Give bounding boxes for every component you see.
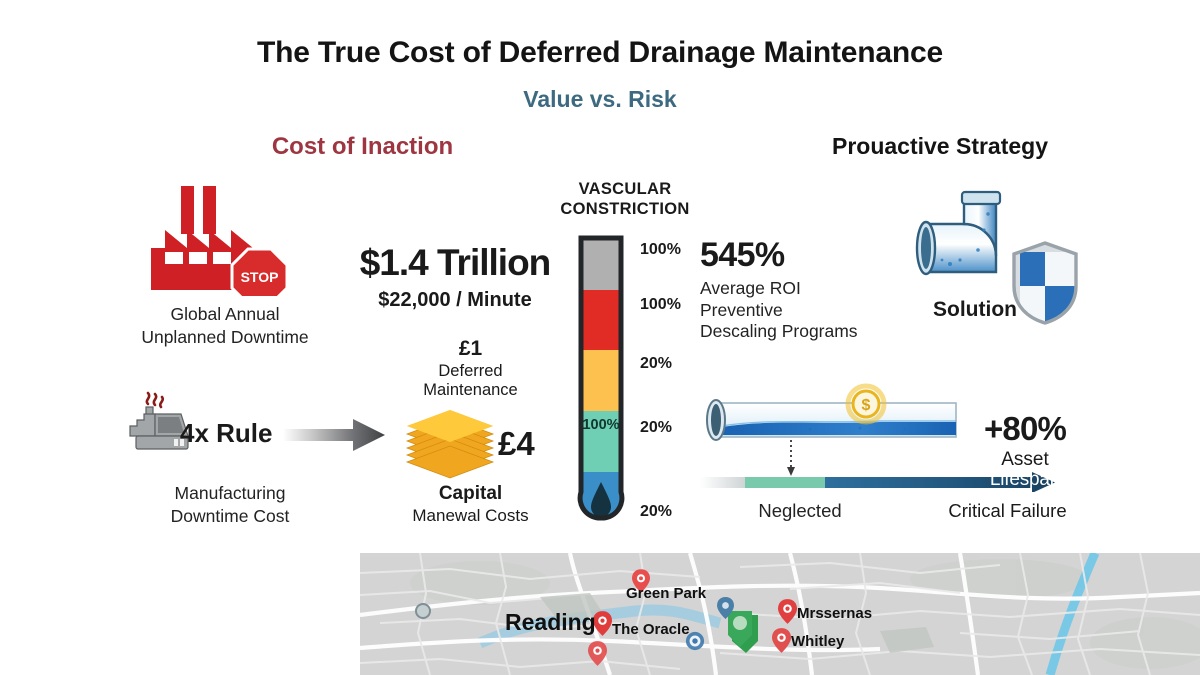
map-label-green-park: Green Park bbox=[626, 585, 706, 602]
map-label-the-oracle: The Oracle bbox=[612, 621, 690, 638]
capital-renewal-label: Capital Manewal Costs bbox=[378, 483, 563, 526]
deferred-amount: £1 bbox=[378, 337, 563, 362]
gold-coin-stack-icon bbox=[405, 408, 495, 480]
roi-line1: Average ROI bbox=[700, 278, 801, 298]
gauge-tick-4: 20% bbox=[640, 503, 672, 521]
pin-the-oracle[interactable] bbox=[593, 611, 612, 636]
gauge-title-line2: CONSTRICTION bbox=[560, 200, 689, 218]
gauge-tick-0: 100% bbox=[640, 241, 681, 259]
map-label-mrssernas: Mrssernas bbox=[797, 605, 872, 622]
gauge-title-line1: VASCULAR bbox=[579, 180, 672, 198]
deferred-line2: Maintenance bbox=[378, 381, 563, 400]
vascular-constriction-gauge bbox=[577, 234, 625, 522]
gauge-inner-label: 100% bbox=[578, 417, 624, 433]
scale-label-neglected: Neglected bbox=[700, 500, 900, 522]
manufacturing-caption: Manufacturing Downtime Cost bbox=[110, 482, 350, 529]
dollar-coin-icon: $ bbox=[845, 383, 887, 425]
pin-extra-marker[interactable] bbox=[588, 641, 607, 666]
gauge-title: VASCULAR CONSTRICTION bbox=[540, 180, 710, 220]
roi-value: 545% bbox=[700, 238, 910, 274]
section-heading-proactive-strategy: Prouactive Strategy bbox=[680, 133, 1200, 160]
gauge-band-red bbox=[577, 290, 625, 350]
downtime-caption: Global Annual Unplanned Downtime bbox=[105, 303, 345, 350]
manufacturing-caption-line2: Downtime Cost bbox=[171, 506, 290, 526]
page-title: The True Cost of Deferred Drainage Maint… bbox=[0, 36, 1200, 70]
four-x-rule-label: 4x Rule bbox=[180, 418, 273, 449]
pin-blue-teardrop[interactable] bbox=[717, 597, 734, 619]
factory-stop-icon: STOP bbox=[145, 186, 305, 296]
map-label-whitley: Whitley bbox=[791, 633, 844, 650]
capital-line2: Manewal Costs bbox=[378, 506, 563, 526]
pin-whitley[interactable] bbox=[772, 628, 791, 653]
location-map[interactable]: Green Park The Oracle Mrssernas bbox=[360, 553, 1200, 675]
roi-line2: Preventive bbox=[700, 300, 783, 320]
svg-text:STOP: STOP bbox=[241, 269, 279, 285]
page-subtitle: Value vs. Risk bbox=[0, 86, 1200, 113]
lifespan-line1: Asset bbox=[955, 449, 1095, 471]
roi-line3: Descaling Programs bbox=[700, 321, 858, 341]
gauge-tick-3: 20% bbox=[640, 419, 672, 437]
gauge-tick-2: 20% bbox=[640, 355, 672, 373]
pipe-horizontal-icon bbox=[700, 395, 960, 447]
pin-blue-circle[interactable] bbox=[685, 631, 705, 651]
right-arrow-icon bbox=[283, 418, 385, 452]
downtime-caption-line1: Global Annual bbox=[171, 304, 280, 324]
solution-label: Solution bbox=[905, 298, 1045, 322]
big-stat-block: $1.4 Trillion $22,000 / Minute bbox=[345, 244, 565, 312]
gauge-tick-1: 100% bbox=[640, 296, 681, 314]
section-heading-cost-of-inaction: Cost of Inaction bbox=[200, 133, 525, 161]
deferred-line1: Deferred bbox=[378, 362, 563, 381]
big-stat-sub: $22,000 / Minute bbox=[345, 289, 565, 312]
lifespan-value: +80% bbox=[955, 412, 1095, 447]
deferred-maintenance-label: £1 Deferred Maintenance bbox=[378, 337, 563, 401]
capital-line1: Capital bbox=[378, 483, 563, 506]
downtime-caption-line2: Unplanned Downtime bbox=[141, 327, 308, 347]
infographic-canvas: The True Cost of Deferred Drainage Maint… bbox=[0, 0, 1200, 675]
gauge-band-orange bbox=[577, 350, 625, 411]
big-stat-value: $1.4 Trillion bbox=[345, 244, 565, 281]
blue-marker-left bbox=[416, 604, 430, 618]
capital-amount: £4 bbox=[498, 425, 535, 463]
stop-sign-icon: STOP bbox=[232, 249, 287, 296]
gauge-band-grey bbox=[577, 234, 625, 290]
roi-block: 545% Average ROI Preventive Descaling Pr… bbox=[700, 238, 910, 343]
lifespan-block: +80% Asset Lifespan bbox=[955, 412, 1095, 491]
scale-label-critical-failure: Critical Failure bbox=[915, 500, 1100, 522]
lifespan-line2: Lifespan bbox=[955, 469, 1095, 491]
map-label-city: Reading bbox=[505, 609, 596, 636]
manufacturing-caption-line1: Manufacturing bbox=[175, 483, 286, 503]
svg-text:$: $ bbox=[862, 397, 871, 414]
pin-mrssernas[interactable] bbox=[778, 599, 797, 624]
